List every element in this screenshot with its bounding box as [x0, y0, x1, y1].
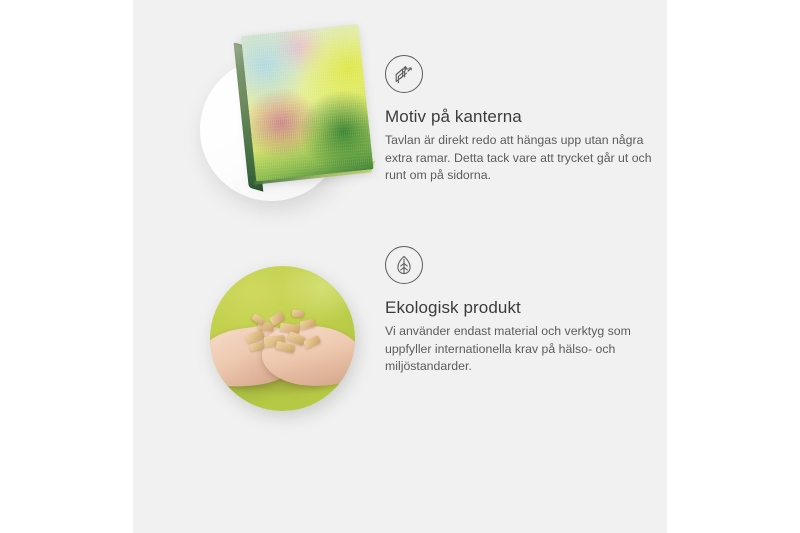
feature-block-ekologisk-produkt: Ekologisk produkt Vi använder endast mat…	[133, 218, 667, 453]
leaf-icon	[385, 246, 423, 284]
feature-description: Tavlan är direkt redo att hängas upp uta…	[385, 132, 653, 184]
canvas-print-image	[233, 24, 377, 197]
feature-title: Motiv på kanterna	[385, 107, 665, 127]
wood-chips-pile	[244, 310, 326, 358]
canvas-wrapped-edge-icon	[385, 55, 423, 93]
feature-description: Vi använder endast material och verktyg …	[385, 323, 653, 375]
media-hands-wood-chips	[183, 218, 418, 453]
canvas-front-face	[241, 24, 374, 182]
product-feature-banner: Motiv på kanterna Tavlan är direkt redo …	[0, 0, 800, 533]
feature-text-ekologisk: Ekologisk produkt Vi använder endast mat…	[385, 218, 665, 376]
content-panel: Motiv på kanterna Tavlan är direkt redo …	[133, 0, 667, 533]
feature-text-motiv: Motiv på kanterna Tavlan är direkt redo …	[385, 25, 665, 185]
hands-with-wood-chips-photo	[210, 266, 355, 411]
feature-title: Ekologisk produkt	[385, 298, 665, 318]
